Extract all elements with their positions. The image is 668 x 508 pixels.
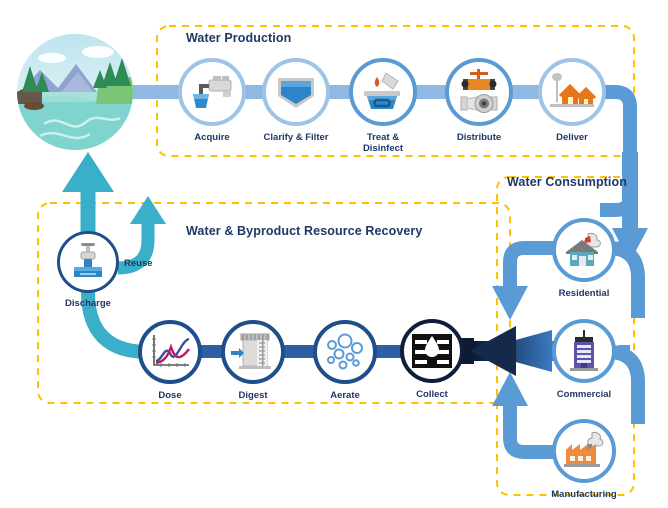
node-caption: Treat & Disinfect — [348, 132, 418, 154]
node-caption: Distribute — [457, 132, 501, 143]
node-caption: Acquire — [194, 132, 229, 143]
node-caption: Manufacturing — [551, 489, 616, 500]
zone-heading-consumption: Water Consumption — [507, 175, 627, 189]
digester-tank-icon — [221, 320, 285, 384]
zone-heading-production: Water Production — [186, 31, 291, 45]
collect-inflow-arrow — [452, 326, 554, 376]
flow-label-reuse: Reuse — [124, 258, 153, 269]
aeration-bubbles-icon — [313, 320, 377, 384]
houses-streetlight-icon — [538, 58, 606, 126]
node-caption: Discharge — [65, 298, 111, 309]
consumption-feed-arrows — [492, 150, 652, 452]
node-caption: Deliver — [556, 132, 588, 143]
house-icon — [552, 218, 616, 282]
water-intake-pump-icon — [178, 58, 246, 126]
node-caption: Clarify & Filter — [261, 132, 331, 143]
source-landscape — [17, 34, 133, 150]
zone-heading-recovery: Water & Byproduct Resource Recovery — [186, 224, 422, 238]
clarifier-basin-icon — [262, 58, 330, 126]
factory-icon — [552, 419, 616, 483]
office-building-icon — [552, 319, 616, 383]
outfall-faucet-icon — [57, 231, 119, 293]
node-caption: Dose — [158, 390, 181, 401]
node-caption: Residential — [559, 288, 610, 299]
disinfection-tank-icon — [349, 58, 417, 126]
line-chart-icon — [138, 320, 202, 384]
node-caption: Commercial — [557, 389, 611, 400]
node-caption: Collect — [416, 389, 448, 400]
water-cycle-diagram: Water Production Water Consumption Water… — [0, 0, 668, 508]
valve-meter-icon — [445, 58, 513, 126]
node-caption: Digest — [238, 390, 267, 401]
node-caption: Aerate — [330, 390, 360, 401]
sewer-collection-icon — [400, 319, 464, 383]
